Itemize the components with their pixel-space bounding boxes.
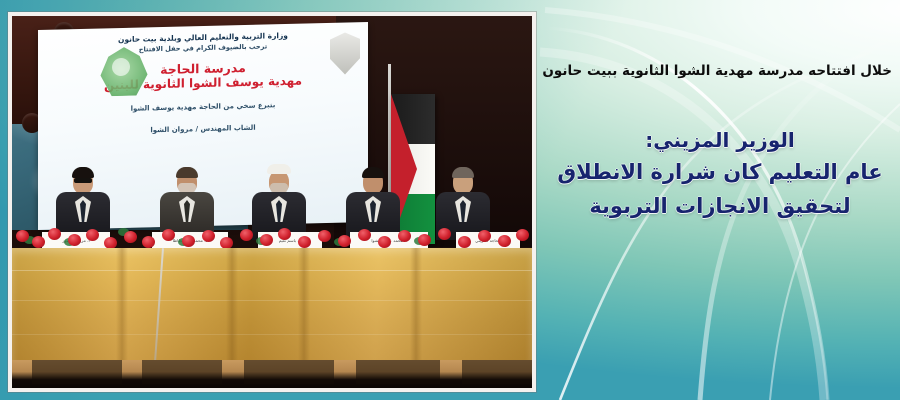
event-photo-frame: وزارة التربية والتعليم العالي وبلدية بيت…	[8, 12, 536, 392]
article-headline: الوزير المزيني: عام التعليم كان شرارة ال…	[548, 126, 892, 222]
banner-donor-line-1: بتبرع سخي من الحاجة مهدية يوسف الشوا	[48, 98, 358, 117]
headline-line-3: لتحقيق الانجازات التربوية	[548, 192, 892, 222]
news-banner-stage: وزارة التربية والتعليم العالي وبلدية بيت…	[0, 0, 900, 400]
headline-line-1: الوزير المزيني:	[548, 126, 892, 154]
article-kicker: خلال افتتاحه مدرسة مهدية الشوا الثانوية …	[548, 62, 892, 81]
stage-front	[12, 360, 532, 388]
article-text-column: خلال افتتاحه مدرسة مهدية الشوا الثانوية …	[548, 0, 892, 400]
event-photo: وزارة التربية والتعليم العالي وبلدية بيت…	[12, 16, 532, 388]
headline-line-2: عام التعليم كان شرارة الانطلاق	[548, 158, 892, 188]
banner-donor-line-2: الشاب المهندس / مروان الشوا	[48, 120, 358, 139]
draped-table	[12, 248, 532, 364]
